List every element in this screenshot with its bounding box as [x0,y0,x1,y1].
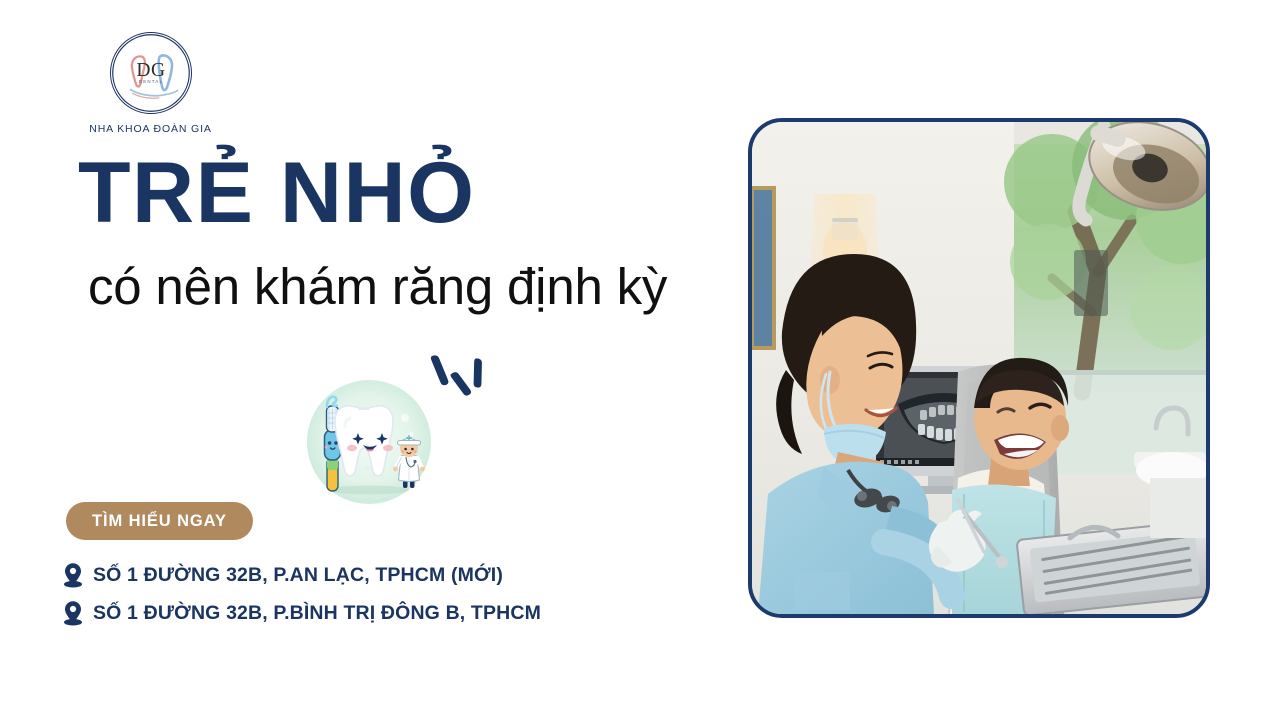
address-text: SỐ 1 ĐƯỜNG 32B, P.BÌNH TRỊ ĐÔNG B, TPHCM [93,602,541,625]
clinic-photo [748,118,1210,618]
list-item[interactable]: SỐ 1 ĐƯỜNG 32B, P.BÌNH TRỊ ĐÔNG B, TPHCM [62,600,541,626]
sparkle-burst-icon [424,352,490,410]
address-list: SỐ 1 ĐƯỜNG 32B, P.AN LẠC, TPHCM (MỚI) SỐ… [62,562,541,626]
map-pin-icon [62,562,84,588]
page-title: TRẺ NHỎ [78,152,476,235]
dental-logo-icon: DG DENTAL [110,32,192,114]
learn-more-button[interactable]: TÌM HIỂU NGAY [66,502,253,540]
page-subtitle: có nên khám răng định kỳ [88,258,667,315]
address-text: SỐ 1 ĐƯỜNG 32B, P.AN LẠC, TPHCM (MỚI) [93,564,503,587]
map-pin-icon [62,600,84,626]
brand-logo-block[interactable]: DG DENTAL NHA KHOA ĐOÀN GIA [63,32,238,135]
svg-text:DG: DG [136,60,165,81]
promo-banner: DG DENTAL NHA KHOA ĐOÀN GIA TRẺ NHỎ có n… [0,0,1275,714]
brand-name-label: NHA KHOA ĐOÀN GIA [63,123,238,135]
left-content-column: DG DENTAL NHA KHOA ĐOÀN GIA TRẺ NHỎ có n… [0,0,730,714]
svg-text:DENTAL: DENTAL [138,79,162,84]
list-item[interactable]: SỐ 1 ĐƯỜNG 32B, P.AN LẠC, TPHCM (MỚI) [62,562,541,588]
